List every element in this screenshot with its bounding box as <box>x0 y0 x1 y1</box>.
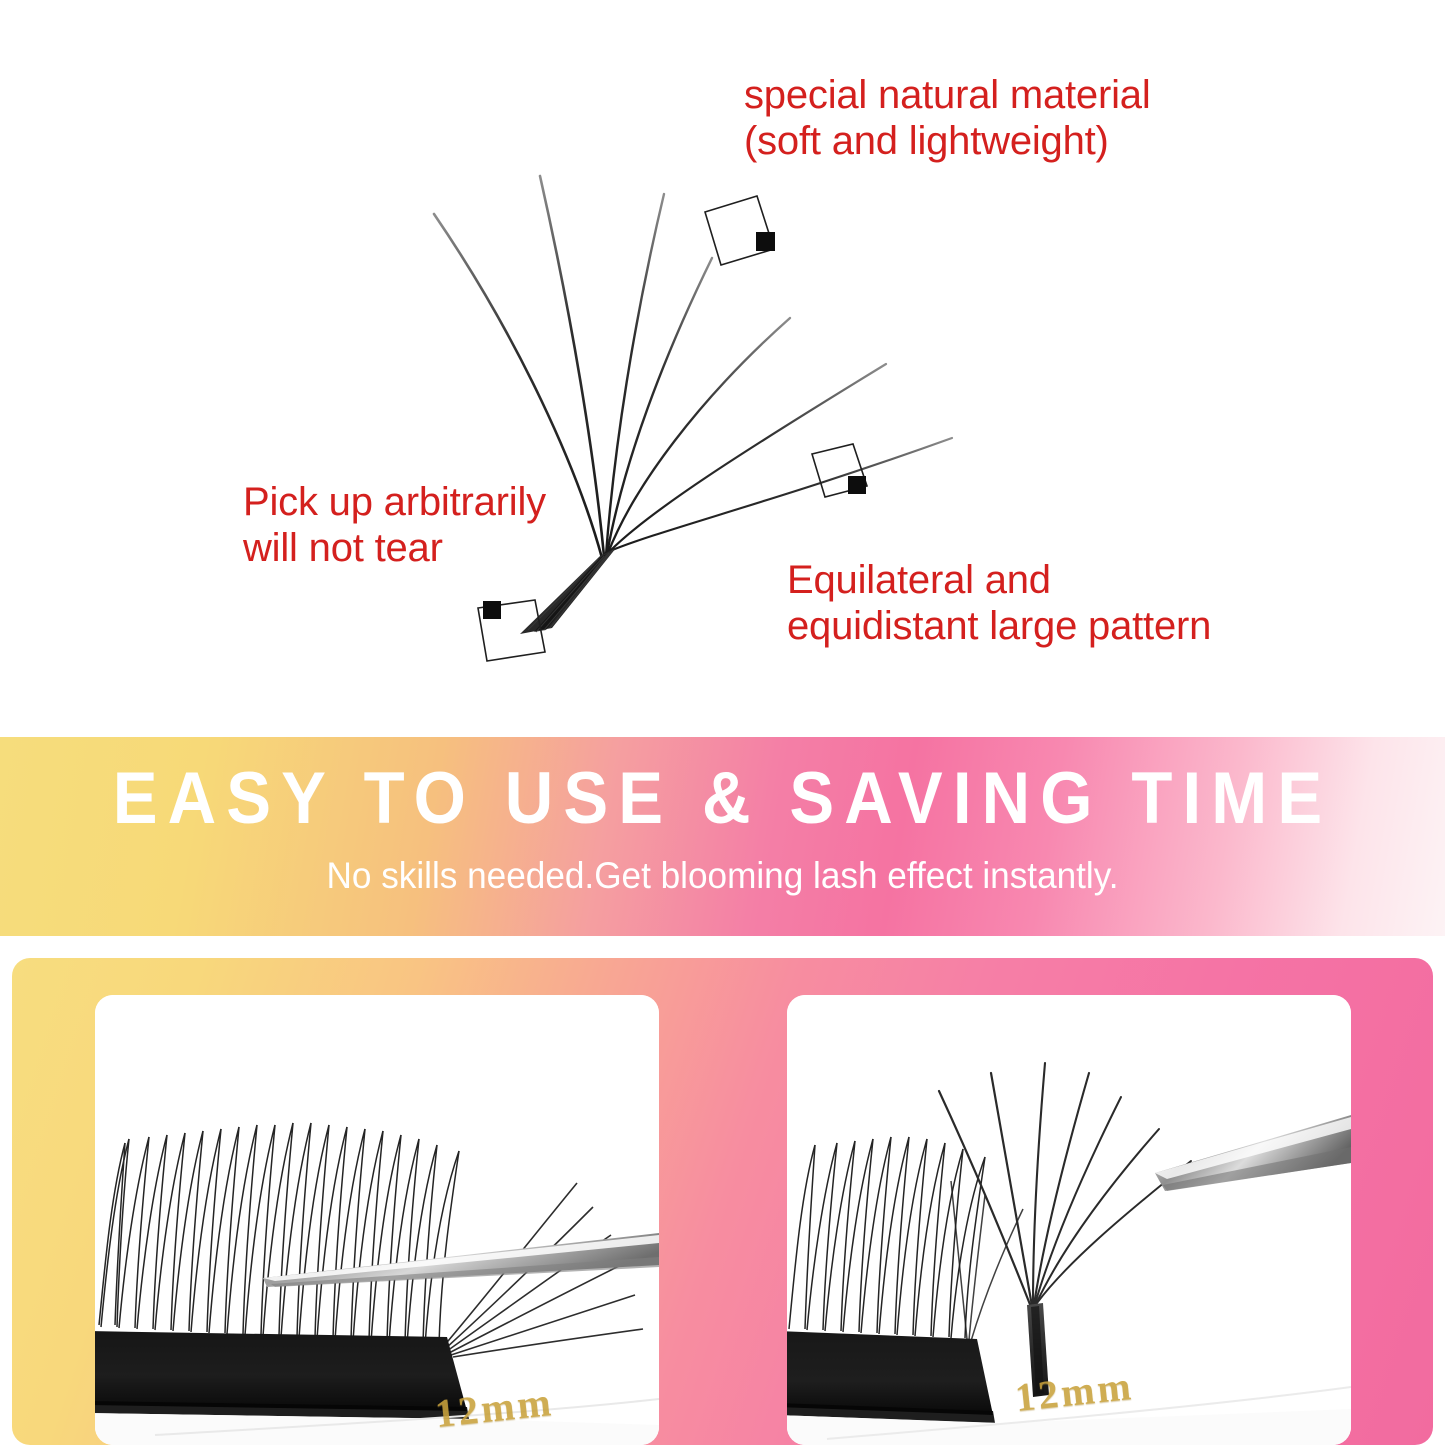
feature-banner: EASY TO USE & SAVING TIME No skills need… <box>0 737 1445 936</box>
photo-card-lash-tray: 12mm <box>95 995 659 1445</box>
callout-equilateral-equidistant: Equilateral and equidistant large patter… <box>787 557 1211 650</box>
product-photo-panel: 12mm <box>12 958 1433 1445</box>
photo-card-lash-fan-pickup: 12mm <box>787 995 1351 1445</box>
lash-tray-image <box>95 995 659 1445</box>
marker-square-upper <box>705 196 775 265</box>
top-diagram-section: special natural material (soft and light… <box>0 0 1445 737</box>
callout-special-natural-material: special natural material (soft and light… <box>744 72 1151 165</box>
lash-fan-diagram <box>0 0 1445 737</box>
callout-pick-up-arbitrarily: Pick up arbitrarily will not tear <box>243 479 546 572</box>
banner-subtitle: No skills needed.Get blooming lash effec… <box>36 857 1409 894</box>
banner-title: EASY TO USE & SAVING TIME <box>58 762 1387 835</box>
